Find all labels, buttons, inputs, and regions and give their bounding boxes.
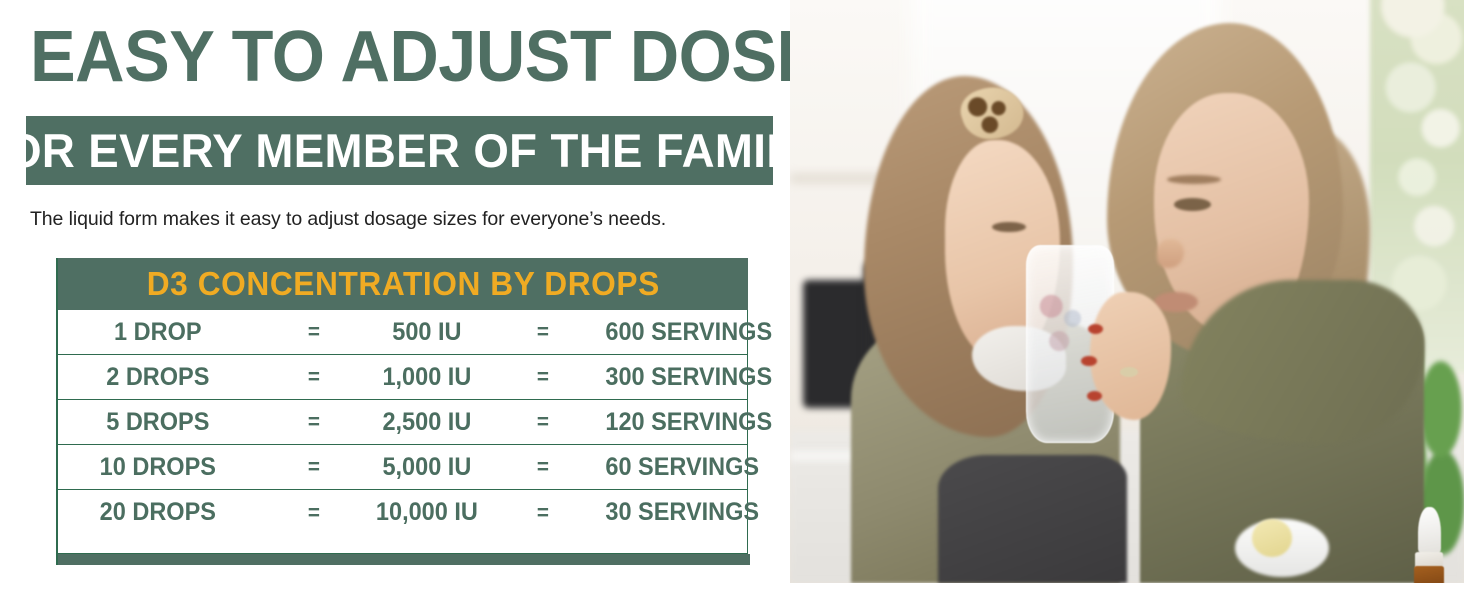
- cell-iu: 5,000 IU: [373, 453, 482, 482]
- lemon: [1252, 519, 1292, 557]
- cell-drops: 20 DROPS: [64, 498, 252, 527]
- child-pants: [938, 455, 1127, 583]
- subtitle-band: FOR EVERY MEMBER OF THE FAMILY: [26, 116, 773, 185]
- dose-table-title: D3 CONCENTRATION BY DROPS: [146, 265, 659, 303]
- cell-servings: 300 SERVINGS: [605, 363, 742, 392]
- cell-servings: 600 SERVINGS: [605, 318, 742, 347]
- cell-equals-2: =: [489, 364, 598, 390]
- cell-equals-1: =: [261, 319, 366, 345]
- mother-hand: [1090, 292, 1171, 420]
- table-row: 20 DROPS = 10,000 IU = 30 SERVINGS: [58, 490, 747, 535]
- cell-equals-1: =: [261, 500, 366, 526]
- child-eye: [992, 222, 1026, 232]
- promo-banner: EASY TO ADJUST DOSES FOR EVERY MEMBER OF…: [0, 0, 1464, 600]
- cell-iu: 1,000 IU: [373, 363, 482, 392]
- cell-iu: 500 IU: [373, 318, 482, 347]
- cell-drops: 5 DROPS: [64, 408, 252, 437]
- page-subtitle: FOR EVERY MEMBER OF THE FAMILY: [37, 116, 762, 185]
- fingernail: [1087, 391, 1103, 401]
- page-title: EASY TO ADJUST DOSES: [30, 14, 733, 100]
- cell-servings: 60 SERVINGS: [605, 453, 742, 482]
- cell-iu: 10,000 IU: [373, 498, 482, 527]
- fingernail: [1081, 356, 1097, 366]
- dropper-bulb-icon: [1418, 507, 1441, 554]
- table-row: 2 DROPS = 1,000 IU = 300 SERVINGS: [58, 355, 747, 400]
- cell-drops: 2 DROPS: [64, 363, 252, 392]
- cell-drops: 10 DROPS: [64, 453, 252, 482]
- cell-equals-2: =: [489, 454, 598, 480]
- cell-equals-1: =: [261, 409, 366, 435]
- dose-table-footer-pad: [58, 535, 748, 554]
- cell-servings: 30 SERVINGS: [605, 498, 742, 527]
- cell-equals-2: =: [489, 319, 598, 345]
- intro-paragraph: The liquid form makes it easy to adjust …: [30, 205, 760, 233]
- lifestyle-photo: [790, 0, 1464, 583]
- cell-equals-1: =: [261, 364, 366, 390]
- cell-drops: 1 DROP: [64, 318, 252, 347]
- dose-table-header: D3 CONCENTRATION BY DROPS: [58, 258, 748, 310]
- dose-table-footer-bar: [58, 554, 750, 565]
- dose-table-body: 1 DROP = 500 IU = 600 SERVINGS 2 DROPS =…: [58, 310, 748, 535]
- table-row: 10 DROPS = 5,000 IU = 60 SERVINGS: [58, 445, 747, 490]
- cell-iu: 2,500 IU: [373, 408, 482, 437]
- cell-equals-2: =: [489, 409, 598, 435]
- dose-table: D3 CONCENTRATION BY DROPS 1 DROP = 500 I…: [56, 258, 748, 565]
- cell-equals-1: =: [261, 454, 366, 480]
- wedding-ring: [1120, 367, 1138, 377]
- left-content-panel: EASY TO ADJUST DOSES FOR EVERY MEMBER OF…: [0, 0, 790, 600]
- dropper-bottle: [1414, 566, 1444, 583]
- cell-equals-2: =: [489, 500, 598, 526]
- cell-servings: 120 SERVINGS: [605, 408, 742, 437]
- table-row: 1 DROP = 500 IU = 600 SERVINGS: [58, 310, 747, 355]
- table-row: 5 DROPS = 2,500 IU = 120 SERVINGS: [58, 400, 747, 445]
